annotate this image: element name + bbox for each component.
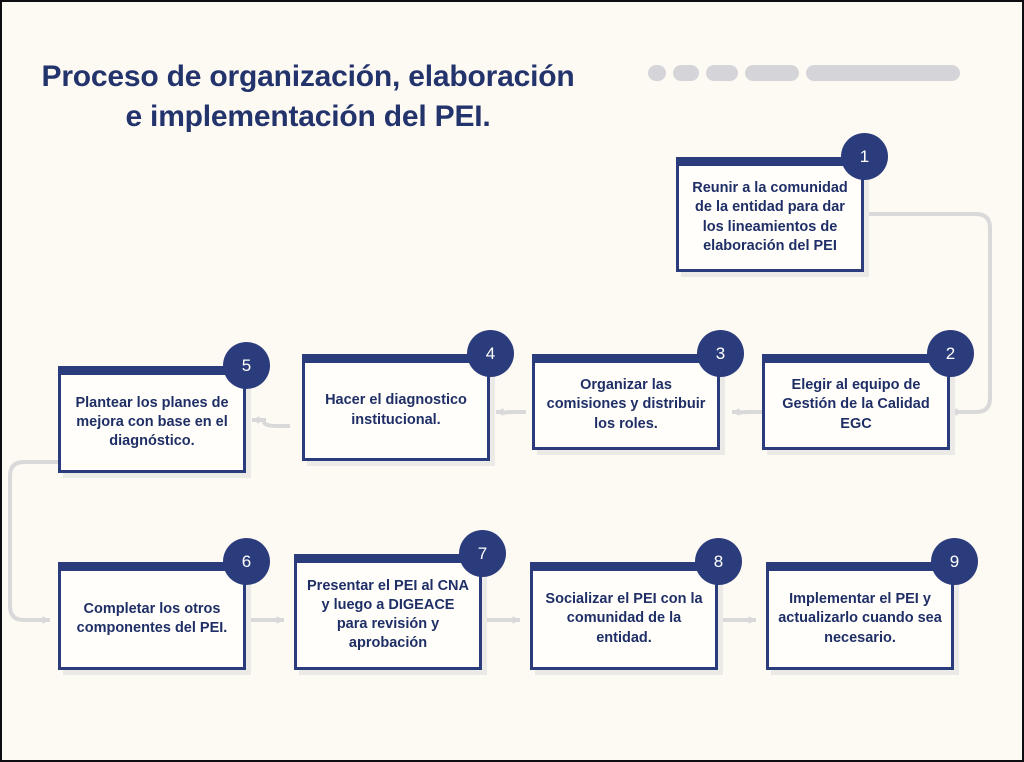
step-label: Presentar el PEI al CNA y luego a DIGEAC… bbox=[294, 563, 482, 667]
decorative-pill-row bbox=[648, 65, 960, 81]
flow-step-3[interactable]: Organizar las comisiones y distribuir lo… bbox=[532, 354, 720, 450]
page-title: Proceso de organización, elaboración e i… bbox=[18, 57, 598, 137]
step-badge-3: 3 bbox=[697, 330, 744, 377]
step-label: Completar los otros componentes del PEI. bbox=[58, 571, 246, 667]
step-label: Elegir al equipo de Gestión de la Calida… bbox=[762, 363, 950, 447]
step-badge-5: 5 bbox=[223, 342, 270, 389]
step-label: Socializar el PEI con la comunidad de la… bbox=[530, 571, 718, 667]
step-label: Plantear los planes de mejora con base e… bbox=[58, 375, 246, 470]
slide-canvas: Proceso de organización, elaboración e i… bbox=[2, 2, 1022, 760]
connector-4-to-5 bbox=[252, 420, 290, 426]
flow-step-1[interactable]: Reunir a la comunidad de la entidad para… bbox=[676, 157, 864, 272]
decor-pill-1 bbox=[648, 65, 666, 81]
flow-step-2[interactable]: Elegir al equipo de Gestión de la Calida… bbox=[762, 354, 950, 450]
decor-pill-5 bbox=[806, 65, 960, 81]
flow-step-8[interactable]: Socializar el PEI con la comunidad de la… bbox=[530, 562, 718, 670]
title-line-2: e implementación del PEI. bbox=[18, 97, 598, 137]
flow-step-5[interactable]: Plantear los planes de mejora con base e… bbox=[58, 366, 246, 473]
step-label: Implementar el PEI y actualizarlo cuando… bbox=[766, 571, 954, 667]
step-badge-1: 1 bbox=[841, 133, 888, 180]
connector-3-to-4 bbox=[496, 412, 526, 414]
step-badge-6: 6 bbox=[223, 538, 270, 585]
flow-step-9[interactable]: Implementar el PEI y actualizarlo cuando… bbox=[766, 562, 954, 670]
decor-pill-4 bbox=[745, 65, 799, 81]
flow-step-6[interactable]: Completar los otros componentes del PEI.… bbox=[58, 562, 246, 670]
step-badge-2: 2 bbox=[927, 330, 974, 377]
decor-pill-3 bbox=[706, 65, 738, 81]
decor-pill-2 bbox=[673, 65, 699, 81]
step-badge-8: 8 bbox=[695, 538, 742, 585]
step-label: Reunir a la comunidad de la entidad para… bbox=[676, 166, 864, 269]
flow-step-7[interactable]: Presentar el PEI al CNA y luego a DIGEAC… bbox=[294, 554, 482, 670]
step-badge-4: 4 bbox=[467, 330, 514, 377]
connector-5-to-6 bbox=[10, 462, 58, 620]
step-badge-7: 7 bbox=[459, 530, 506, 577]
connector-2-to-3 bbox=[732, 412, 762, 414]
flow-step-4[interactable]: Hacer el diagnostico institucional. 4 bbox=[302, 354, 490, 461]
step-badge-9: 9 bbox=[931, 538, 978, 585]
step-label: Hacer el diagnostico institucional. bbox=[302, 363, 490, 458]
title-line-1: Proceso de organización, elaboración bbox=[42, 60, 575, 93]
step-label: Organizar las comisiones y distribuir lo… bbox=[532, 363, 720, 447]
